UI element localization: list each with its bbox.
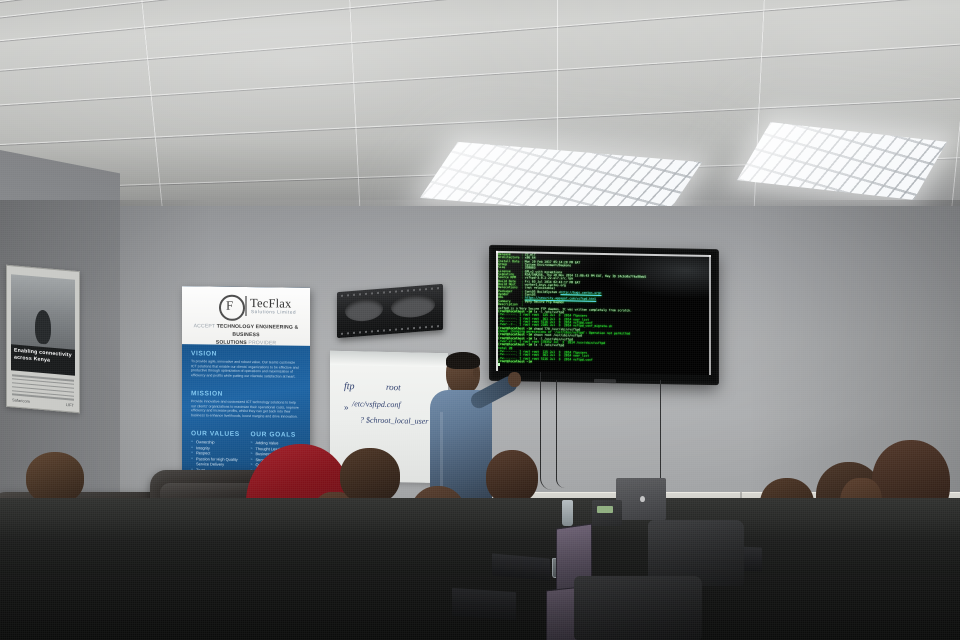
brand-subtitle: Solutions Limited bbox=[251, 309, 296, 315]
macbook bbox=[616, 478, 666, 520]
flipchart-note-3: /etc/vsftpd.conf bbox=[352, 399, 401, 409]
vision-text: To provide agile, innovative and robust … bbox=[191, 359, 301, 379]
banner-tagline: ACCEPT TECHNOLOGY ENGINEERING & BUSINESS… bbox=[182, 322, 310, 348]
flipchart-note-1: ftp bbox=[344, 381, 355, 392]
presenter-hair bbox=[446, 352, 480, 369]
poster-caption: Enabling connectivity across Kenya bbox=[11, 344, 75, 376]
tv-logo-strip bbox=[594, 379, 616, 383]
tagline-main: TECHNOLOGY ENGINEERING & BUSINESS bbox=[217, 324, 299, 339]
screen-edge-highlight-right bbox=[709, 255, 711, 375]
laptop-keyboard bbox=[452, 588, 516, 620]
presenter-shirt-fold bbox=[440, 412, 443, 488]
tagline-line2: SOLUTIONS bbox=[216, 340, 247, 346]
mission-section: MISSION Provide innovative and customize… bbox=[191, 390, 301, 419]
attendee-head bbox=[26, 452, 84, 504]
desk-phone bbox=[592, 500, 622, 526]
poster-footer-right: LIFT bbox=[66, 401, 74, 407]
values-heading: OUR VALUES bbox=[191, 430, 242, 438]
tv-wall-mount-bracket bbox=[337, 284, 443, 338]
vision-section: VISION To provide agile, innovative and … bbox=[191, 350, 301, 379]
logo-divider bbox=[245, 296, 247, 316]
list-item: Passion for High Quality Service Deliver… bbox=[191, 456, 242, 468]
attendee-head bbox=[486, 450, 538, 504]
tagline-suffix: PROVIDER bbox=[248, 340, 276, 346]
flipchart-bullet: » bbox=[344, 403, 348, 412]
presenter-ear bbox=[473, 368, 480, 378]
tecflax-logo-icon bbox=[219, 295, 245, 321]
poster-footer-left: Safaricom bbox=[12, 397, 30, 404]
laptop-bag-2 bbox=[574, 576, 702, 640]
water-bottle bbox=[562, 500, 573, 526]
goals-heading: OUR GOALS bbox=[251, 431, 302, 439]
wall-poster-connectivity: Enabling connectivity across Kenya Safar… bbox=[6, 265, 80, 413]
flipchart-note-2: root bbox=[386, 382, 401, 392]
flipchart-note-4: ? $chroot_local_user bbox=[360, 415, 428, 425]
mission-heading: MISSION bbox=[191, 390, 301, 399]
vision-heading: VISION bbox=[191, 350, 301, 359]
presenter-hand bbox=[508, 372, 521, 387]
photo-scene: Enabling connectivity across Kenya Safar… bbox=[0, 0, 960, 640]
mission-text: Provide innovative and customized ICT te… bbox=[191, 399, 301, 419]
tagline-prefix: ACCEPT bbox=[194, 323, 216, 329]
table-foreground bbox=[0, 498, 960, 640]
